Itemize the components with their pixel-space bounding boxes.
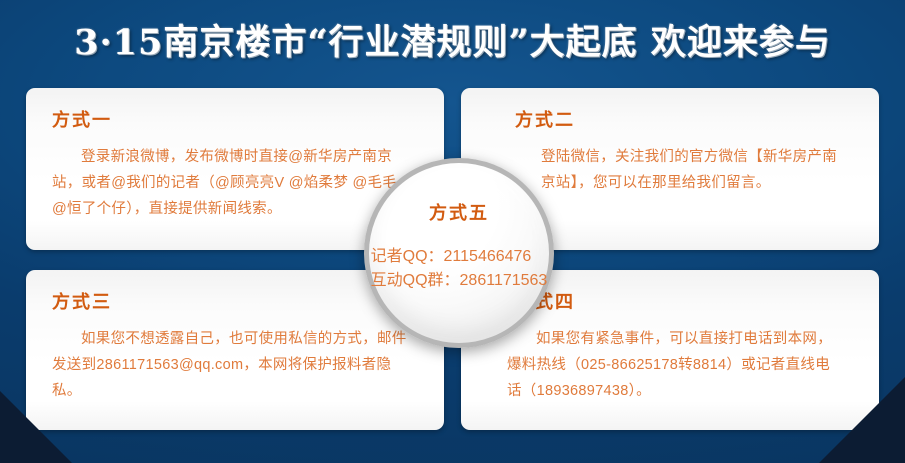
method-panel-2-heading: 方式二 — [515, 106, 855, 132]
method-panel-3-body: 如果您不想透露自己，也可使用私信的方式，邮件发送到2861171563@qq.c… — [52, 326, 420, 404]
method-circle-5[interactable]: 方式五 记者QQ：2115466476 互动QQ群：2861171563 — [364, 158, 554, 348]
method-panel-1-heading: 方式一 — [52, 106, 420, 132]
page-title: 3·15南京楼市“行业潜规则”大起底 欢迎来参与 — [0, 0, 905, 78]
method-panel-4-heading: 方式四 — [515, 288, 855, 314]
method-panel-1-body: 登录新浪微博，发布微博时直接@新华房产南京站，或者@我们的记者（@顾亮亮V @焰… — [52, 144, 420, 222]
poster-canvas: 3·15南京楼市“行业潜规则”大起底 欢迎来参与 方式一 登录新浪微博，发布微博… — [0, 0, 905, 463]
method-circle-5-heading: 方式五 — [429, 199, 489, 225]
method-panel-4-body: 如果您有紧急事件，可以直接打电话到本网，爆料热线（025-86625178转88… — [507, 326, 855, 404]
group-qq-line: 互动QQ群：2861171563 — [371, 269, 548, 293]
method-panel-2-body: 登陆微信，关注我们的官方微信【新华房产南京站】，您可以在那里给我们留言。 — [507, 144, 855, 196]
reporter-qq-line: 记者QQ：2115466476 — [371, 245, 548, 269]
method-circle-5-contacts: 记者QQ：2115466476 互动QQ群：2861171563 — [371, 245, 548, 293]
method-panel-3-heading: 方式三 — [52, 288, 420, 314]
page-title-text: 3·15南京楼市“行业潜规则”大起底 欢迎来参与 — [74, 14, 831, 65]
